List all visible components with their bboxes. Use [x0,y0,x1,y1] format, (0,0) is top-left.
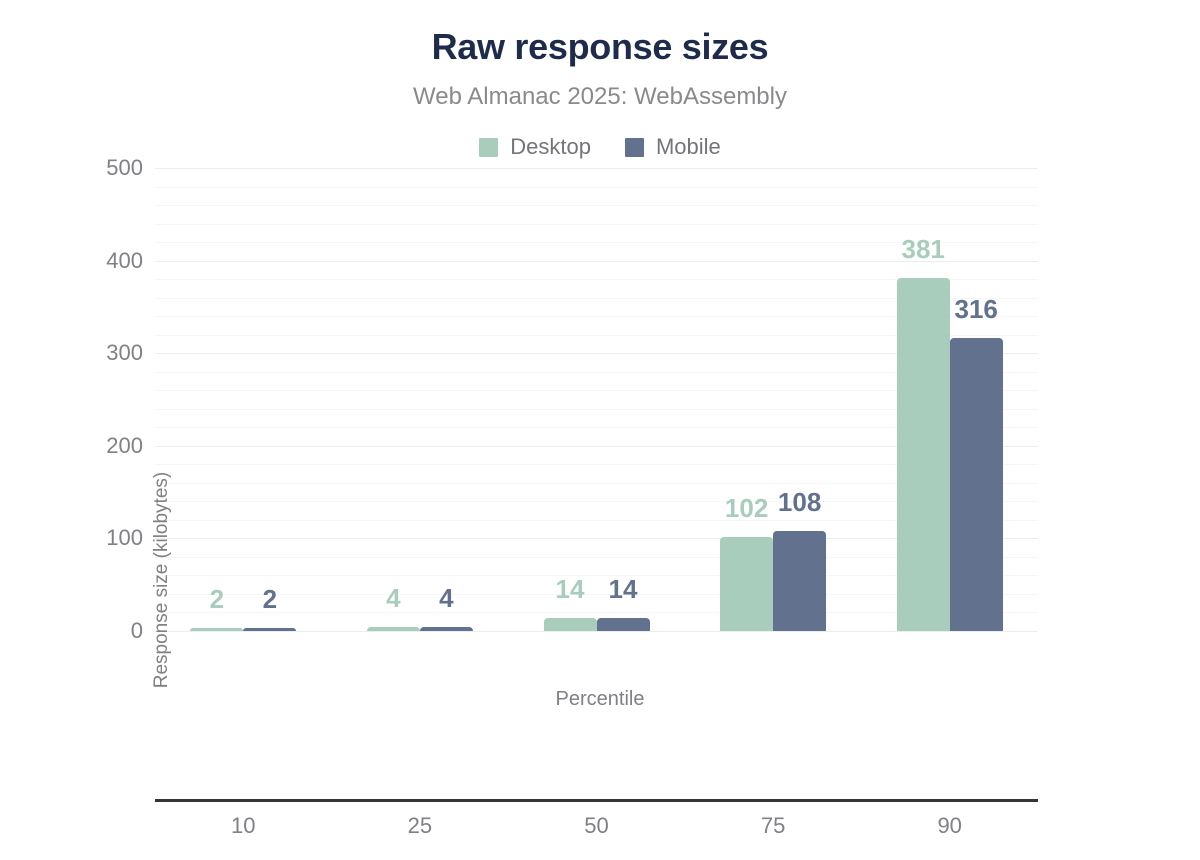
bar-value-label-desktop-p25: 4 [386,583,400,614]
bar-desktop-p10[interactable] [190,628,243,631]
x-tick-label: 75 [761,813,785,839]
bar-mobile-p90[interactable] [950,338,1003,631]
bar-desktop-p50[interactable] [544,618,597,631]
bar-desktop-p25[interactable] [367,627,420,631]
bar-mobile-p10[interactable] [243,628,296,631]
bar-desktop-p90[interactable] [897,278,950,631]
y-tick-label: 200 [5,433,143,459]
x-tick-label: 50 [584,813,608,839]
y-tick-label: 300 [5,340,143,366]
bar-value-label-desktop-p10: 2 [210,584,224,615]
bar-value-label-mobile-p10: 2 [263,584,277,615]
x-axis-line [155,799,1038,802]
chart-figure: Raw response sizes Web Almanac 2025: Web… [0,0,1200,742]
x-tick-label: 90 [937,813,961,839]
legend-label-mobile: Mobile [656,134,721,160]
y-tick-label: 400 [5,248,143,274]
bar-value-label-desktop-p90: 381 [901,234,944,265]
bar-value-label-mobile-p75: 108 [778,487,821,518]
legend-swatch-mobile [625,138,644,157]
bar-value-label-mobile-p90: 316 [954,294,997,325]
x-tick-label: 25 [408,813,432,839]
bar-value-label-mobile-p25: 4 [439,583,453,614]
chart-legend: Desktop Mobile [0,134,1200,160]
y-tick-label: 0 [5,618,143,644]
x-axis-title: Percentile [0,688,1200,711]
bar-mobile-p75[interactable] [773,531,826,631]
legend-label-desktop: Desktop [510,134,591,160]
y-tick-label: 100 [5,525,143,551]
legend-item-mobile[interactable]: Mobile [625,134,721,160]
bar-mobile-p50[interactable] [597,618,650,631]
chart-subtitle: Web Almanac 2025: WebAssembly [0,83,1200,111]
bars-layer: 22441414102108381316 [155,168,1038,631]
y-tick-label: 500 [5,155,143,181]
gridline-major [155,631,1038,632]
bar-desktop-p75[interactable] [720,537,773,631]
bar-value-label-desktop-p50: 14 [556,574,585,605]
legend-swatch-desktop [479,138,498,157]
bar-mobile-p25[interactable] [420,627,473,631]
chart-title: Raw response sizes [0,26,1200,68]
bar-value-label-desktop-p75: 102 [725,493,768,524]
legend-item-desktop[interactable]: Desktop [479,134,591,160]
x-tick-label: 10 [231,813,255,839]
bar-value-label-mobile-p50: 14 [609,574,638,605]
